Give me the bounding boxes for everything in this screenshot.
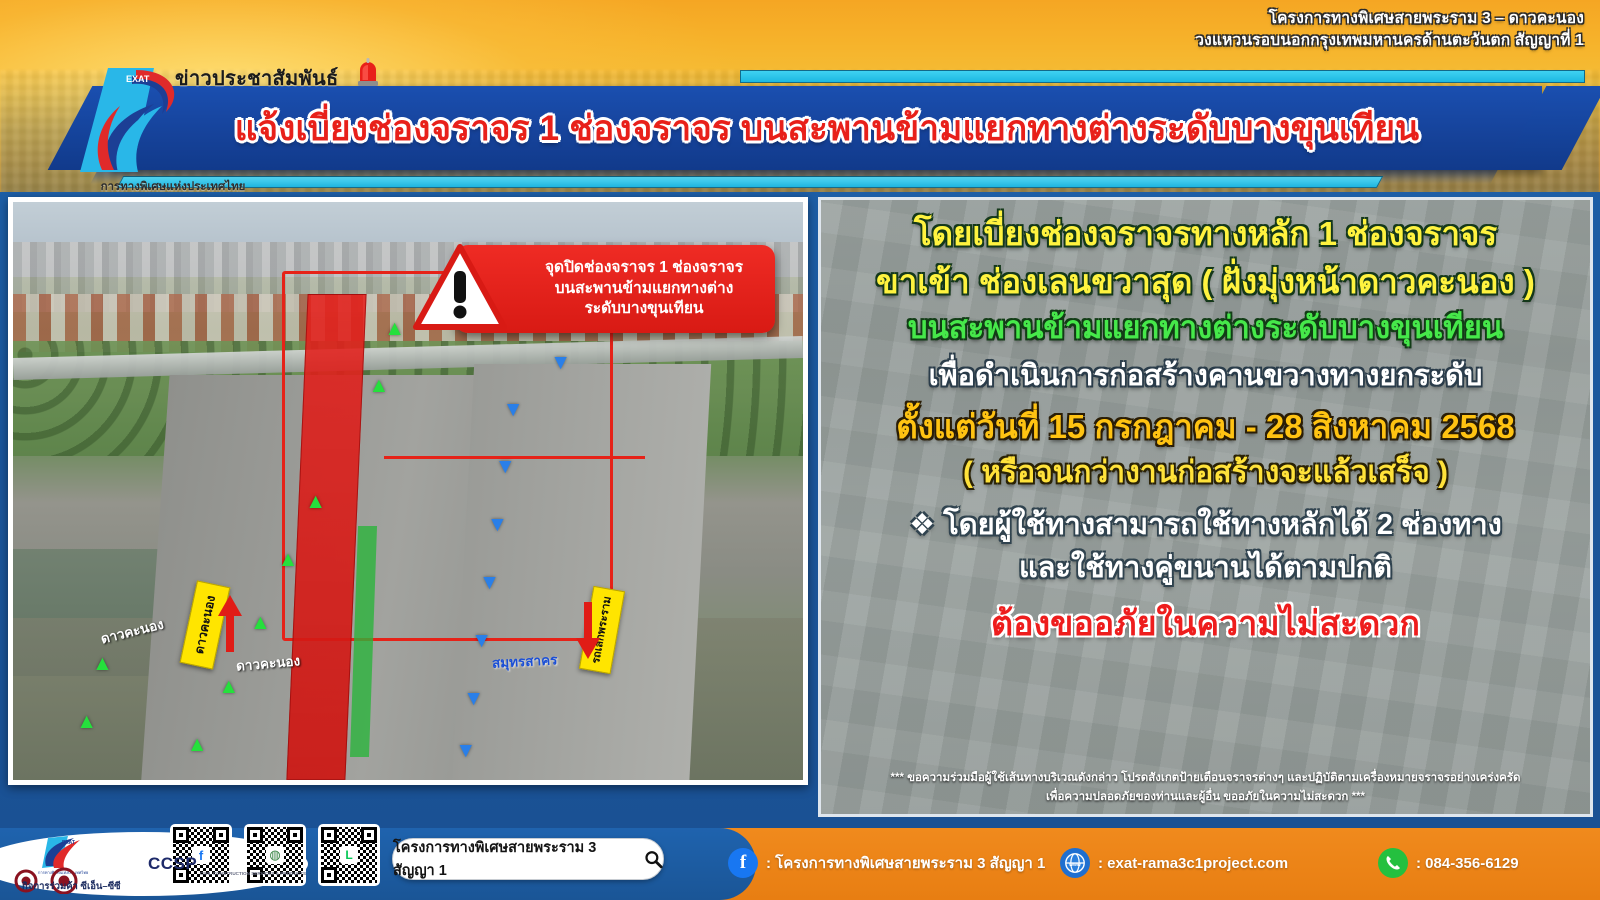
svg-text:การทางพิเศษแห่งประเทศไทย: การทางพิเศษแห่งประเทศไทย [38, 870, 88, 875]
svg-text:EXAT: EXAT [62, 840, 75, 846]
panel-line-4: เพื่อดำเนินการก่อสร้างคานขวางทางยกระดับ [837, 359, 1574, 395]
panel-line-2: ขาเข้า ช่องเลนขวาสุด ( ฝั่งมุ่งหน้าดาวคะ… [837, 262, 1574, 303]
news-label: ข่าวประชาสัมพันธ์ [175, 62, 338, 94]
closure-callout-text: จุดปิดช่องจราจร 1 ช่องจราจร บนสะพานข้ามแ… [525, 258, 763, 319]
open-lane-arrow: ▲ [218, 676, 239, 697]
search-value: โครงการทางพิเศษสายพระราม 3 สัญญา 1 [393, 836, 635, 882]
search-pill[interactable]: โครงการทางพิเศษสายพระราม 3 สัญญา 1 [392, 838, 664, 880]
panel-line-6: ( หรือจนกว่างานก่อสร้างจะแล้วเสร็จ ) [837, 455, 1574, 492]
website-text: : exat-rama3c1project.com [1098, 855, 1288, 872]
traffic-flow-arrow: ▼ [455, 740, 476, 761]
exat-logo-caption: การทางพิเศษแห่งประเทศไทย [58, 178, 288, 196]
panel-line-3: บนสะพานข้ามแยกทางต่างระดับบางขุนเทียน [837, 309, 1574, 347]
open-lane-arrow: ▲ [92, 653, 113, 674]
facebook-text: : โครงการทางพิเศษสายพระราม 3 สัญญา 1 [766, 851, 1045, 875]
project-title: โครงการทางพิเศษสายพระราม 3 – ดาวคะนอง วง… [864, 8, 1584, 52]
fine-print-line1: *** ขอความร่วมมือผู้ใช้เส้นทางบริเวณดังก… [835, 769, 1576, 787]
detour-arrow-right [573, 600, 603, 662]
announcement-panel: โดยเบี่ยงช่องจราจรทางหลัก 1 ช่องจราจร ขา… [818, 197, 1593, 817]
poster-root: โครงการทางพิเศษสายพระราม 3 – ดาวคะนอง วง… [0, 0, 1600, 900]
callout-line3: ระดับบางขุนเทียน [525, 299, 763, 319]
panel-line-5: ตั้งแต่วันที่ 15 กรกฎาคม - 28 สิงหาคม 25… [837, 407, 1574, 448]
detour-arrow-left [215, 592, 245, 654]
open-lane-arrow: ▲ [76, 711, 97, 732]
announcement-text: โดยเบี่ยงช่องจราจรทางหลัก 1 ช่องจราจร ขา… [821, 200, 1590, 814]
traffic-flow-arrow: ▼ [463, 688, 484, 709]
open-lane-arrow: ▲ [305, 491, 326, 512]
exat-logo: EXAT [62, 52, 187, 177]
title-ribbon: แจ้งเบี่ยงช่องจราจร 1 ช่องจราจร บนสะพานข… [112, 86, 1542, 170]
cyan-accent-bar-top [740, 70, 1585, 83]
panel-line-1: โดยเบี่ยงช่องจราจรทางหลัก 1 ช่องจราจร [837, 214, 1574, 255]
traffic-flow-arrow: ▼ [495, 456, 516, 477]
open-lane-arrow: ▲ [187, 734, 208, 755]
qr-line[interactable]: L [318, 824, 380, 886]
open-lane-arrow: ▲ [384, 318, 405, 339]
ccsp-sublabel: CIVIL CONSTRUCTION SERVICES & PRODUCTS [200, 871, 310, 878]
panel-line-8: และใช้ทางคู่ขนานได้ตามปกติ [837, 551, 1574, 587]
callout-line2: บนสะพานข้ามแยกทางต่าง [525, 279, 763, 299]
warning-triangle-icon [412, 241, 508, 335]
globe-icon: www [1060, 848, 1090, 878]
main-title: แจ้งเบี่ยงช่องจราจร 1 ช่องจราจร บนสะพานข… [112, 86, 1542, 170]
panel-line-7: ❖ โดยผู้ใช้ทางสามารถใช้ทางหลักได้ 2 ช่อง… [837, 508, 1574, 544]
footer-contact-website[interactable]: www : exat-rama3c1project.com [1060, 848, 1288, 878]
traffic-flow-arrow: ▼ [471, 630, 492, 651]
facebook-icon: f [728, 848, 758, 878]
traffic-flow-arrow: ▼ [487, 514, 508, 535]
footer-bar: EXAT การทางพิเศษแห่งประเทศไทย CCSP CIVIL… [0, 828, 1600, 900]
fine-print: *** ขอความร่วมมือผู้ใช้เส้นทางบริเวณดังก… [821, 769, 1590, 806]
phone-icon [1378, 848, 1408, 878]
traffic-flow-arrow: ▼ [550, 352, 571, 373]
open-lane-arrow: ▲ [250, 612, 271, 633]
open-lane-arrow: ▲ [369, 375, 390, 396]
siren-icon [355, 57, 381, 87]
open-lane-arrow: ▲ [278, 549, 299, 570]
footer-contact-facebook[interactable]: f : โครงการทางพิเศษสายพระราม 3 สัญญา 1 [728, 848, 1045, 878]
search-icon [644, 849, 663, 869]
project-title-line2: วงแหวนรอบนอกกรุงเทพมหานครด้านตะวันตก สัญ… [864, 30, 1584, 52]
cyan-accent-bar-bottom [117, 176, 1383, 188]
traffic-flow-arrow: ▼ [503, 399, 524, 420]
callout-line1: จุดปิดช่องจราจร 1 ช่องจราจร [525, 258, 763, 278]
project-title-line1: โครงการทางพิเศษสายพระราม 3 – ดาวคะนอง [864, 8, 1584, 30]
footer-contact-phone[interactable]: : 084-356-6129 [1378, 848, 1519, 878]
fine-print-line2: เพื่อความปลอดภัยของท่านและผู้อื่น ขออภัย… [835, 788, 1576, 806]
closure-callout: จุดปิดช่องจราจร 1 ช่องจราจร บนสะพานข้ามแ… [455, 245, 775, 333]
phone-text: : 084-356-6129 [1416, 855, 1519, 872]
joint-venture-label: กิจการร่วมค้า ซีเอ็น–ซีซี [22, 879, 121, 894]
svg-text:EXAT: EXAT [126, 74, 150, 84]
svg-text:www: www [1068, 862, 1081, 868]
ccsp-label: CCSP [148, 854, 197, 874]
traffic-flow-arrow: ▼ [479, 572, 500, 593]
panel-line-9: ต้องขออภัยในความไม่สะดวก [837, 604, 1574, 646]
label-samutsakhon: สมุทรสาคร [491, 648, 557, 673]
